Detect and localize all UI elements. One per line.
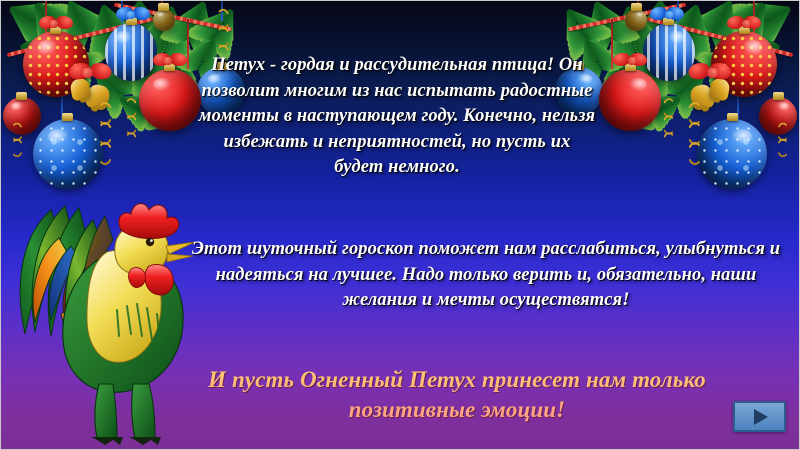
red-bead-garland-icon: [568, 3, 686, 32]
blue-striped-bauble-icon: [643, 23, 695, 81]
gold-ribbon-curl-icon: [687, 105, 703, 165]
rooster-breast: [87, 250, 161, 362]
gold-ribbon-curl-icon: [97, 105, 113, 165]
small-red-bauble-icon: [3, 97, 41, 135]
gold-ribbon-curl-icon: [11, 125, 24, 157]
rooster-feet: [91, 437, 161, 445]
blue-striped-bauble-icon: [105, 23, 157, 81]
blue-snowflake-bauble-icon: [697, 119, 767, 189]
bauble-cap-icon: [126, 17, 137, 25]
play-triangle-icon: [754, 409, 768, 425]
ornament-string: [753, 1, 755, 35]
gold-bell-icon: [708, 78, 730, 102]
red-polka-dot-bauble-icon: [23, 31, 89, 97]
gold-bell-icon: [84, 83, 111, 112]
red-bead-garland-icon: [114, 3, 232, 32]
ornament-string: [61, 91, 63, 121]
paragraph-two: Этот шуточный гороскоп поможет нам рассл…: [183, 237, 789, 314]
rooster-wattle: [145, 265, 174, 296]
gold-ribbon-curl-icon: [124, 101, 138, 144]
bauble-cap-icon: [164, 63, 175, 71]
red-polka-dot-bauble-icon: [711, 31, 777, 97]
ornament-string: [611, 19, 613, 69]
play-forward-button[interactable]: [733, 401, 786, 432]
finale-headline: И пусть Огненный Петух принесет нам толь…: [177, 365, 737, 425]
rooster-saddle-feathers: [61, 305, 147, 366]
bauble-dot-pattern: [711, 31, 777, 97]
rooster-hackle: [117, 304, 160, 342]
gold-bauble-icon: [625, 9, 647, 31]
rooster-legs: [95, 384, 155, 438]
bauble-cap-icon: [50, 26, 61, 34]
bauble-cap-icon: [158, 3, 169, 11]
bauble-snowflake-pattern: [33, 119, 103, 189]
ornament-string: [187, 19, 189, 69]
gold-ribbon-curl-icon: [777, 125, 790, 157]
red-bead-garland-icon: [647, 17, 794, 57]
ornament-string: [221, 1, 223, 21]
rooster-body: [63, 253, 183, 392]
ornament-string: [45, 1, 47, 35]
ornament-string: [737, 91, 739, 121]
ornament-string: [161, 1, 163, 15]
ornament-string: [637, 1, 639, 15]
ornament-string: [677, 1, 679, 23]
gold-bell-icon: [688, 83, 715, 112]
bauble-snowflake-pattern: [697, 119, 767, 189]
gold-ribbon-curl-icon: [216, 12, 230, 57]
bauble-cap-icon: [663, 17, 674, 25]
bauble-cap-icon: [16, 92, 27, 100]
gold-bell-icon: [69, 78, 91, 102]
paragraph-one: Петух - гордая и рассудительная птица! О…: [197, 53, 597, 181]
rooster-tail: [20, 206, 113, 336]
red-glossy-bauble-icon: [139, 69, 201, 131]
rooster-eye: [146, 238, 154, 246]
gold-ribbon-curl-icon: [662, 101, 676, 144]
rooster-head: [115, 224, 168, 275]
gold-bauble-icon: [153, 9, 175, 31]
rooster-comb: [119, 204, 179, 239]
bauble-dot-pattern: [23, 31, 89, 97]
small-red-bauble-icon: [759, 97, 797, 135]
bauble-stripe-pattern: [105, 23, 157, 81]
red-bead-garland-icon: [7, 17, 154, 57]
bauble-cap-icon: [631, 3, 642, 11]
red-glossy-bauble-icon: [599, 69, 661, 131]
bauble-cap-icon: [625, 63, 636, 71]
bauble-cap-icon: [62, 113, 73, 121]
bauble-cap-icon: [773, 92, 784, 100]
ornament-string: [121, 1, 123, 23]
bauble-cap-icon: [739, 26, 750, 34]
bauble-stripe-pattern: [643, 23, 695, 81]
bauble-cap-icon: [727, 113, 738, 121]
blue-snowflake-bauble-icon: [33, 119, 103, 189]
presentation-slide: Петух - гордая и рассудительная птица! О…: [0, 0, 800, 450]
